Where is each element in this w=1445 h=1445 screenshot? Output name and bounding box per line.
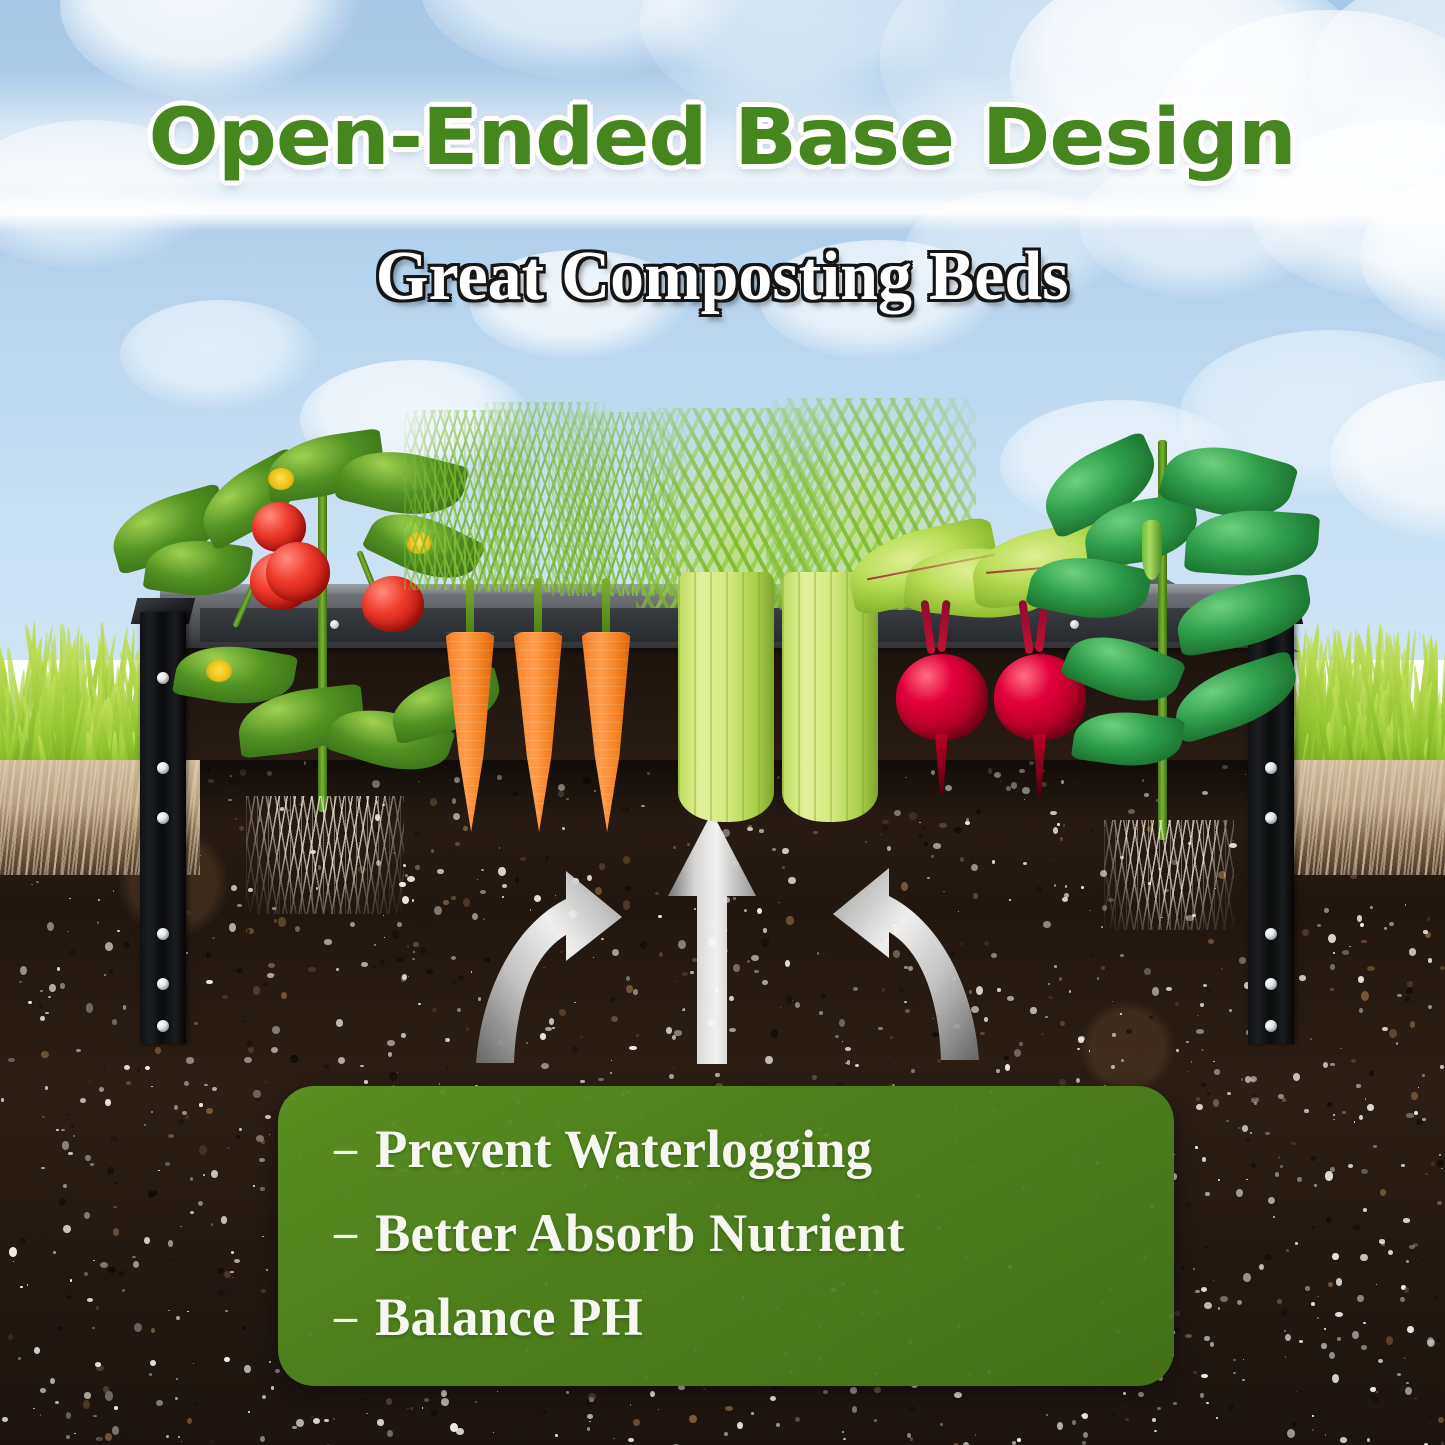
soil-speck — [229, 923, 236, 932]
soil-speck — [451, 956, 456, 960]
soil-speck — [1369, 1071, 1373, 1076]
soil-speck — [1009, 899, 1011, 901]
soil-speck — [185, 1115, 190, 1120]
panel-speck — [378, 1190, 379, 1191]
soil-speck — [212, 1087, 217, 1092]
soil-speck — [823, 1390, 828, 1395]
soil-speck — [180, 1226, 182, 1227]
soil-speck — [100, 1262, 108, 1268]
panel-speck — [1022, 1186, 1025, 1189]
soil-speck — [566, 1391, 570, 1393]
soil-speck — [256, 1135, 264, 1141]
soil-speck — [1181, 1265, 1184, 1269]
soil-speck — [1190, 1152, 1191, 1153]
soil-speck — [271, 1386, 274, 1390]
soil-speck — [1238, 1127, 1241, 1129]
soil-speck — [792, 1000, 793, 1001]
soil-speck — [1354, 1121, 1355, 1122]
soil-speck — [68, 1114, 70, 1116]
soil-speck — [27, 1284, 28, 1285]
soil-speck — [451, 896, 455, 901]
soil-speck — [939, 823, 947, 828]
soil-speck — [193, 1363, 194, 1364]
soil-speck — [1363, 1208, 1366, 1212]
soil-speck — [1327, 1102, 1332, 1106]
benefits-panel: – Prevent Waterlogging – Better Absorb N… — [278, 1086, 1174, 1386]
soil-speck — [126, 1081, 131, 1084]
soil-speck — [865, 841, 867, 843]
soil-speck — [421, 918, 426, 921]
soil-speck — [1291, 1142, 1296, 1146]
soil-speck — [1144, 968, 1151, 974]
soil-speck — [1437, 1201, 1442, 1205]
soil-speck — [1195, 1290, 1200, 1294]
soil-speck — [1357, 1295, 1363, 1302]
soil-speck — [1386, 1336, 1393, 1345]
soil-speck — [960, 857, 964, 861]
soil-speck — [1312, 1226, 1315, 1229]
soil-speck — [63, 1184, 67, 1188]
tomato-roots — [246, 796, 404, 914]
soil-speck — [262, 1236, 263, 1238]
soil-speck — [232, 1277, 233, 1278]
panel-speck — [586, 1362, 589, 1365]
soil-speck — [324, 939, 332, 944]
soil-speck — [1323, 1062, 1328, 1068]
soil-speck — [1120, 1013, 1121, 1015]
soil-speck — [1296, 1391, 1297, 1392]
soil-speck — [241, 1020, 244, 1023]
panel-speck — [298, 1153, 302, 1157]
panel-speck — [644, 1376, 648, 1380]
soil-speck — [175, 1397, 178, 1400]
soil-speck — [150, 1360, 156, 1366]
soil-speck — [186, 910, 191, 915]
soil-speck — [1431, 900, 1434, 902]
soil-speck — [1050, 860, 1051, 861]
soil-speck — [272, 1026, 280, 1033]
panel-speck — [369, 1179, 371, 1181]
soil-speck — [57, 967, 60, 971]
soil-speck — [1376, 1284, 1378, 1285]
soil-speck — [47, 922, 54, 931]
soil-speck — [1059, 977, 1062, 981]
soil-speck — [1228, 1404, 1234, 1411]
bed-frame-screw — [330, 620, 339, 629]
leg-screw — [1265, 928, 1277, 940]
soil-speck — [86, 1003, 94, 1012]
soil-speck — [1195, 1146, 1198, 1149]
soil-speck — [1396, 1042, 1398, 1044]
soil-speck — [168, 1310, 170, 1311]
soil-speck — [85, 1155, 91, 1162]
panel-speck — [545, 1282, 548, 1285]
soil-speck — [246, 1040, 253, 1047]
soil-speck — [972, 858, 974, 860]
soil-speck — [1046, 1414, 1048, 1416]
panel-speck — [1091, 1102, 1094, 1105]
panel-speck — [807, 1280, 809, 1282]
soil-speck — [1201, 1083, 1206, 1086]
soil-speck — [176, 1378, 178, 1380]
soil-speck — [104, 1066, 105, 1068]
soil-speck — [271, 1047, 278, 1053]
soil-speck — [1397, 1373, 1401, 1376]
leg-screw — [1265, 978, 1277, 990]
soil-speck — [1328, 1282, 1333, 1287]
soil-speck — [992, 860, 995, 864]
soil-speck — [1414, 1111, 1418, 1115]
soil-speck — [1218, 1179, 1220, 1181]
soil-speck — [1197, 1015, 1199, 1016]
soil-speck — [184, 1081, 189, 1086]
panel-speck — [874, 1372, 877, 1375]
soil-speck — [1206, 988, 1212, 993]
soil-speck — [253, 1185, 255, 1187]
soil-speck — [114, 1406, 118, 1410]
leg-screw — [1265, 762, 1277, 774]
soil-speck — [1125, 1418, 1129, 1421]
soil-speck — [154, 1116, 156, 1118]
leg-screw — [157, 762, 169, 774]
soil-speck — [850, 1387, 857, 1393]
soil-speck — [659, 952, 663, 957]
soil-speck — [1, 1098, 4, 1102]
soil-speck — [442, 986, 444, 988]
soil-speck — [224, 1271, 231, 1279]
soil-speck — [426, 969, 433, 974]
soil-speck — [274, 919, 277, 923]
soil-speck — [1243, 1273, 1250, 1282]
soil-speck — [1379, 1239, 1386, 1243]
soil-speck — [629, 1046, 637, 1051]
soil-speck — [1425, 1173, 1427, 1175]
soil-speck — [1299, 975, 1306, 980]
soil-speck — [2, 1417, 8, 1423]
soil-speck — [350, 922, 356, 928]
soil-speck — [45, 1012, 48, 1014]
soil-speck — [1302, 929, 1309, 936]
soil-speck — [1440, 1065, 1444, 1070]
soil-speck — [253, 986, 260, 995]
soil-speck — [1342, 1111, 1346, 1114]
soil-speck — [253, 1090, 260, 1098]
airflow-arrow-left — [470, 865, 630, 1065]
soil-speck — [1221, 968, 1223, 970]
soil-speck — [795, 1002, 800, 1008]
soil-speck — [165, 1162, 171, 1166]
soil-speck — [1367, 966, 1375, 971]
soil-speck — [34, 1347, 40, 1354]
soil-speck — [231, 885, 237, 891]
soil-speck — [598, 1078, 604, 1082]
soil-speck — [1236, 1189, 1243, 1197]
soil-speck — [262, 1395, 267, 1399]
soil-speck — [134, 1323, 142, 1332]
soil-speck — [588, 1393, 596, 1401]
soil-speck — [269, 1134, 271, 1135]
soil-speck — [1373, 1145, 1376, 1148]
soil-speck — [132, 1256, 136, 1258]
soil-speck — [1416, 1259, 1417, 1260]
soil-speck — [1069, 990, 1072, 992]
carrot-neck — [466, 578, 474, 636]
soil-speck — [1439, 1154, 1440, 1156]
soil-speck — [212, 1441, 213, 1442]
soil-speck — [42, 1116, 44, 1118]
soil-speck — [384, 937, 385, 939]
soil-speck — [1340, 1048, 1342, 1049]
soil-speck — [410, 1407, 413, 1410]
soil-speck — [782, 848, 789, 855]
soil-speck — [41, 1051, 48, 1058]
soil-speck — [882, 825, 888, 831]
soil-speck — [1203, 984, 1207, 987]
subtitle-block: Great Composting Beds — [0, 238, 1445, 316]
soil-speck — [771, 1029, 779, 1038]
soil-speck — [206, 980, 213, 985]
soil-speck — [887, 846, 892, 851]
soil-speck — [1241, 1078, 1243, 1080]
soil-speck — [182, 1111, 186, 1115]
soil-speck — [206, 1108, 213, 1114]
soil-speck — [587, 1414, 593, 1419]
soil-speck — [1250, 1132, 1252, 1134]
soil-speck — [782, 866, 785, 869]
soil-speck — [1060, 1021, 1065, 1026]
soil-speck — [1410, 1021, 1415, 1028]
soil-speck — [1004, 1056, 1009, 1060]
soil-speck — [703, 1388, 706, 1390]
soil-speck — [108, 1267, 116, 1274]
soil-speck — [446, 1066, 448, 1069]
soil-speck — [1012, 1441, 1016, 1445]
soil-speck — [1196, 1029, 1203, 1034]
soil-speck — [1259, 1264, 1264, 1270]
soil-speck — [439, 1083, 441, 1085]
soil-speck — [1428, 1005, 1432, 1009]
soil-speck — [1123, 1392, 1126, 1396]
soil-speck — [92, 1327, 95, 1329]
soil-speck — [1437, 1339, 1440, 1342]
soil-speck — [104, 974, 106, 976]
soil-speck — [1407, 1326, 1413, 1333]
leg-screw — [157, 672, 169, 684]
soil-speck — [107, 1167, 114, 1175]
soil-speck — [244, 1365, 251, 1373]
soil-speck — [125, 1434, 129, 1437]
soil-speck — [874, 1419, 877, 1423]
panel-speck — [789, 1371, 792, 1374]
soil-speck — [1285, 1334, 1292, 1342]
soil-speck — [587, 1427, 590, 1431]
soil-speck — [237, 904, 242, 907]
soil-speck — [1337, 1337, 1341, 1340]
soil-speck — [61, 1129, 64, 1131]
airflow-arrow-right — [820, 862, 985, 1062]
soil-speck — [397, 922, 402, 927]
soil-speck — [497, 1391, 498, 1392]
soil-speck — [144, 1124, 146, 1126]
soil-speck — [1152, 1418, 1156, 1421]
soil-speck — [589, 1421, 590, 1422]
soil-speck — [149, 1373, 152, 1376]
soil-speck — [1278, 1156, 1280, 1159]
soil-speck — [762, 980, 768, 986]
soil-speck — [432, 1008, 436, 1012]
soil-speck — [1213, 1099, 1219, 1107]
page-title: Open-Ended Base Design — [149, 96, 1296, 180]
panel-speck — [455, 1113, 457, 1115]
soil-speck — [1281, 1307, 1288, 1316]
soil-speck — [1318, 1410, 1322, 1413]
soil-speck — [475, 1401, 477, 1402]
soil-speck — [266, 1269, 268, 1270]
benefit-label: Prevent Waterlogging — [375, 1120, 872, 1178]
panel-speck — [626, 1090, 630, 1094]
soil-speck — [1414, 1398, 1416, 1400]
panel-speck — [1093, 1357, 1094, 1358]
soil-speck — [40, 1400, 42, 1401]
soil-speck — [776, 1423, 780, 1427]
panel-speck — [1074, 1351, 1076, 1353]
soil-speck — [278, 917, 286, 926]
soil-speck — [1326, 1217, 1332, 1223]
soil-speck — [48, 996, 50, 998]
soil-speck — [1017, 1438, 1021, 1442]
soil-speck — [56, 1129, 59, 1131]
soil-speck — [1205, 1246, 1209, 1249]
leg-screw — [157, 812, 169, 824]
soil-speck — [281, 992, 287, 999]
soil-speck — [984, 941, 989, 946]
soil-speck — [1007, 996, 1014, 1001]
panel-speck — [589, 1096, 592, 1099]
soil-speck — [918, 834, 922, 839]
soil-speck — [1196, 1097, 1200, 1101]
soil-speck — [95, 1362, 101, 1367]
soil-speck — [774, 1386, 778, 1390]
panel-speck — [687, 1182, 690, 1185]
soil-speck — [39, 1004, 43, 1008]
soil-speck — [105, 1433, 112, 1440]
soil-speck — [1053, 983, 1054, 984]
soil-speck — [407, 1408, 409, 1409]
soil-speck — [36, 881, 39, 883]
soil-speck — [737, 1422, 742, 1429]
soil-speck — [1427, 917, 1430, 921]
soil-speck — [1363, 1322, 1367, 1325]
soil-speck — [1353, 1225, 1360, 1231]
soil-speck — [1193, 1371, 1196, 1374]
soil-speck — [324, 1419, 329, 1422]
soil-speck — [236, 968, 243, 973]
carrot-neck — [534, 578, 542, 636]
soil-speck — [69, 949, 76, 957]
panel-speck — [535, 1270, 537, 1272]
soil-speck — [73, 1135, 75, 1137]
soil-speck — [919, 822, 920, 824]
soil-speck — [1157, 1407, 1161, 1410]
soil-speck — [1427, 1414, 1434, 1419]
soil-speck — [613, 1438, 615, 1439]
soil-speck — [997, 988, 1001, 991]
soil-speck — [204, 1084, 208, 1086]
soil-speck — [203, 1174, 204, 1175]
soil-speck — [401, 975, 406, 982]
panel-speck — [968, 1373, 971, 1376]
soil-speck — [1201, 1287, 1207, 1292]
soil-speck — [1360, 1254, 1367, 1261]
soil-speck — [493, 1432, 494, 1433]
soil-speck — [1435, 1296, 1438, 1300]
soil-speck — [1389, 922, 1394, 925]
soil-speck — [364, 1080, 368, 1083]
soil-speck — [1204, 1336, 1210, 1340]
soil-speck — [996, 1069, 1000, 1073]
soil-speck — [263, 981, 267, 985]
soil-speck — [268, 963, 275, 968]
grass-root-mat-right — [1280, 760, 1445, 875]
soil-speck — [80, 1098, 86, 1103]
soil-speck — [1361, 940, 1367, 944]
panel-speck — [1008, 1265, 1012, 1269]
soil-speck — [724, 1432, 728, 1436]
soil-speck — [133, 1261, 139, 1268]
soil-speck — [66, 1435, 70, 1439]
soil-speck — [178, 1119, 183, 1124]
soil-speck — [1349, 946, 1351, 947]
soil-speck — [90, 1163, 94, 1166]
soil-speck — [1314, 1184, 1317, 1187]
soil-speck — [1216, 1417, 1218, 1419]
soil-speck — [1201, 933, 1206, 937]
soil-speck — [1329, 1352, 1335, 1359]
panel-speck — [517, 1101, 521, 1105]
soil-speck — [1292, 1422, 1298, 1427]
panel-speck — [298, 1310, 301, 1313]
soil-speck — [1407, 981, 1413, 987]
soil-speck — [1064, 893, 1069, 898]
soil-speck — [1124, 1401, 1127, 1403]
soil-speck — [387, 1430, 393, 1437]
soil-speck — [295, 926, 300, 932]
soil-speck — [1311, 1156, 1316, 1161]
soil-speck — [672, 1067, 673, 1068]
soil-speck — [131, 935, 132, 936]
leg-screw — [157, 1020, 169, 1032]
soil-speck — [430, 1410, 438, 1415]
soil-speck — [761, 938, 768, 947]
soil-speck — [1201, 1049, 1203, 1051]
soil-speck — [1388, 1250, 1393, 1255]
panel-speck — [1161, 1362, 1164, 1365]
soil-speck — [20, 966, 28, 976]
page-subtitle: Great Composting Beds — [376, 238, 1069, 316]
soil-speck — [122, 1289, 125, 1291]
soil-speck — [882, 820, 889, 824]
panel-speck — [1022, 1186, 1025, 1189]
soil-speck — [1176, 1049, 1179, 1052]
soil-speck — [377, 1419, 384, 1425]
soil-speck — [636, 1034, 639, 1036]
soil-speck — [1101, 966, 1105, 970]
soil-speck — [66, 1295, 72, 1299]
soil-speck — [1138, 1392, 1144, 1397]
soil-speck — [1200, 1003, 1205, 1007]
soil-speck — [1384, 927, 1387, 930]
soil-speck — [158, 1170, 160, 1172]
